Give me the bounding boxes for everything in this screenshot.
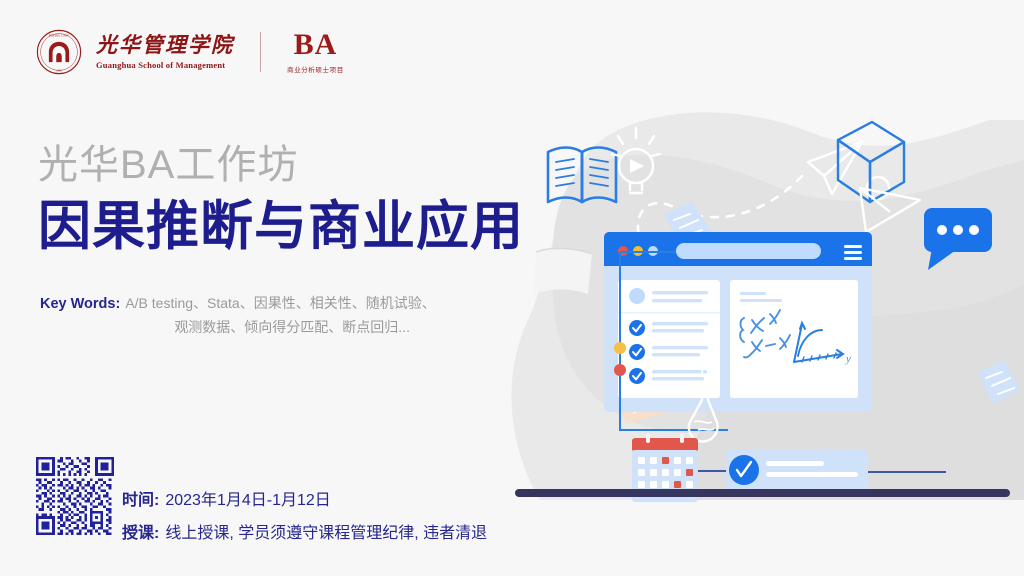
info-value-time: 2023年1月4日-1月12日 xyxy=(165,486,330,510)
axis-label-x: y xyxy=(845,353,851,365)
program-name-cn: 商业分析硕士项目 xyxy=(287,64,344,74)
svg-text:PEKING UNIV: PEKING UNIV xyxy=(49,33,70,37)
svg-text:1898: 1898 xyxy=(56,69,62,72)
online-learning-illustration: y xyxy=(480,80,1024,520)
keywords-block: Key Words: A/B testing、Stata、因果性、相关性、随机试… xyxy=(40,292,480,340)
hamburger-menu-icon xyxy=(844,245,862,260)
program-abbr: BA xyxy=(294,30,338,60)
school-name-cn: 光华管理学院 xyxy=(96,34,234,57)
info-value-delivery: 线上授课, 学员须遵守课程管理纪律, 违者清退 xyxy=(165,519,487,543)
avatar xyxy=(629,288,645,304)
school-name-en: Guanghua School of Management xyxy=(96,60,234,70)
keywords-list: A/B testing、Stata、因果性、相关性、随机试验、 观测数据、倾向得… xyxy=(125,292,435,340)
course-info-block: 时间: 2023年1月4日-1月12日 授课: 线上授课, 学员须遵守课程管理纪… xyxy=(122,486,487,552)
poster-canvas: PEKING UNIV 1898 光华管理学院 Guanghua School … xyxy=(0,0,1024,576)
keywords-label: Key Words: xyxy=(40,292,120,317)
keywords-line-2: 观测数据、倾向得分匹配、断点回归... xyxy=(174,316,435,340)
page-title: 因果推断与商业应用 xyxy=(38,194,524,260)
page-kicker: 光华BA工作坊 xyxy=(38,140,524,190)
browser-window: y xyxy=(604,232,872,412)
paper-stack-icon xyxy=(534,248,592,294)
gsm-wordmark: 光华管理学院 Guanghua School of Management xyxy=(96,34,234,70)
logo-divider xyxy=(260,32,261,72)
info-label-delivery: 授课: xyxy=(122,519,159,543)
headline-block: 光华BA工作坊 因果推断与商业应用 xyxy=(38,140,524,260)
timeline-dot-red xyxy=(614,364,626,376)
info-row-delivery: 授课: 线上授课, 学员须遵守课程管理纪律, 违者清退 xyxy=(122,519,487,543)
keywords-line-1: A/B testing、Stata、因果性、相关性、随机试验、 xyxy=(125,292,435,316)
info-row-time: 时间: 2023年1月4日-1月12日 xyxy=(122,486,487,510)
keywords-row: Key Words: A/B testing、Stata、因果性、相关性、随机试… xyxy=(40,292,480,340)
ba-program-logo: BA 商业分析硕士项目 xyxy=(287,30,344,74)
url-bar xyxy=(676,243,821,259)
bottom-accent-bar xyxy=(515,489,1010,497)
list-panel xyxy=(618,280,720,398)
pku-seal-icon: PEKING UNIV 1898 xyxy=(36,29,82,75)
timeline-dot-yellow xyxy=(614,342,626,354)
brand-logo-bar: PEKING UNIV 1898 光华管理学院 Guanghua School … xyxy=(36,26,344,78)
whiteboard-panel: y xyxy=(730,280,858,398)
qr-code-icon[interactable] xyxy=(36,457,114,535)
info-label-time: 时间: xyxy=(122,486,159,510)
